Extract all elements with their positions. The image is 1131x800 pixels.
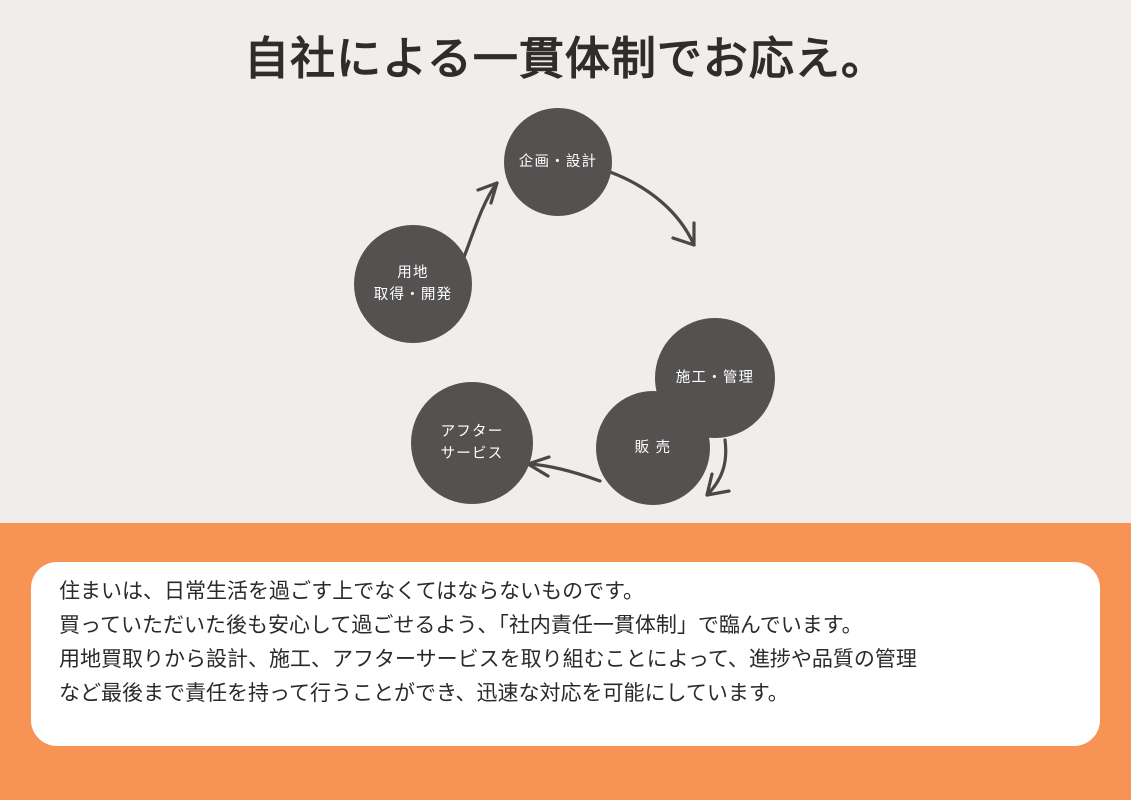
cycle-node-sales[interactable]: 販 売 xyxy=(596,391,710,505)
cycle-node-land[interactable]: 用地 取得・開発 xyxy=(354,225,472,343)
cycle-node-sales-label: 販 売 xyxy=(635,437,672,459)
cycle-diagram: 企画・設計 施工・管理 販 売 アフター サービス 用地 取得・開発 xyxy=(0,95,1131,520)
cycle-node-plan[interactable]: 企画・設計 xyxy=(504,108,612,216)
arrow-plan-to-build xyxy=(610,172,694,245)
cycle-node-land-label: 用地 取得・開発 xyxy=(374,262,453,307)
arrow-build-to-sales xyxy=(707,440,729,495)
cycle-node-build-label: 施工・管理 xyxy=(676,367,755,389)
description-text: 住まいは、日常生活を過ごす上でなくてはならないものです。 買っていただいた後も安… xyxy=(59,575,1079,711)
arrow-sales-to-after xyxy=(528,457,600,481)
page-title: 自社による一貫体制でお応え。 xyxy=(0,22,1131,87)
cycle-node-after-service-label: アフター サービス xyxy=(441,421,504,466)
description-card: 住まいは、日常生活を過ごす上でなくてはならないものです。 買っていただいた後も安… xyxy=(31,562,1100,746)
cycle-node-plan-label: 企画・設計 xyxy=(519,151,598,173)
slide-root: 自社による一貫体制でお応え。 企画 xyxy=(0,0,1131,800)
cycle-node-after-service[interactable]: アフター サービス xyxy=(411,382,533,504)
